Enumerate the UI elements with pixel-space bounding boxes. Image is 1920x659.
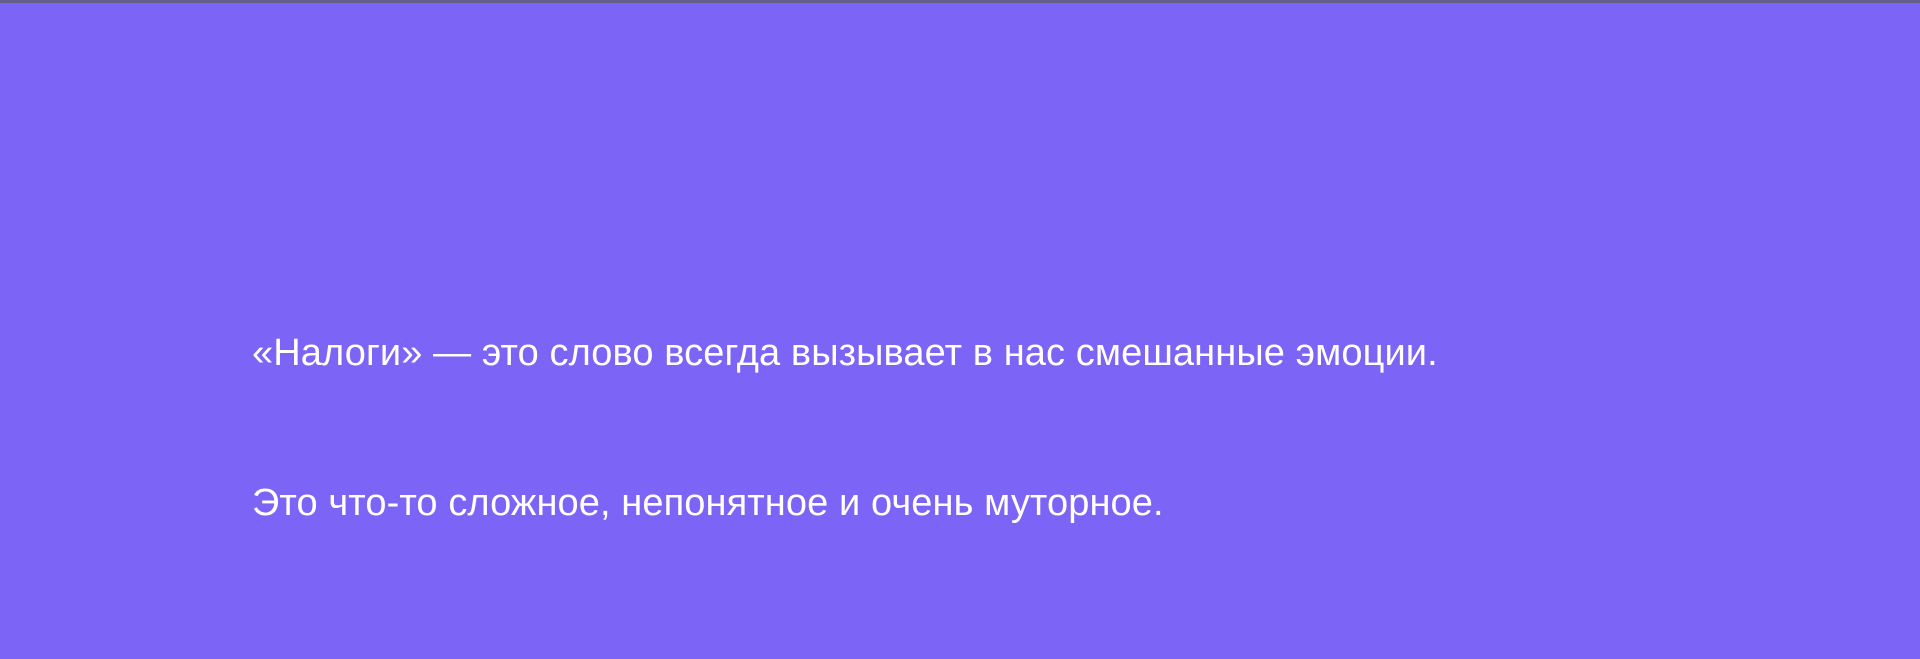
slide-text-block: «Налоги» — это слово всегда вызывает в н… <box>252 228 1732 659</box>
slide-canvas: «Налоги» — это слово всегда вызывает в н… <box>0 0 1920 659</box>
top-divider-rule <box>0 0 1920 3</box>
paragraph-intro-line-2: Это что-то сложное, непонятное и очень м… <box>252 478 1732 528</box>
paragraph-intro-line-1: «Налоги» — это слово всегда вызывает в н… <box>252 328 1732 378</box>
paragraph-intro: «Налоги» — это слово всегда вызывает в н… <box>252 228 1732 628</box>
